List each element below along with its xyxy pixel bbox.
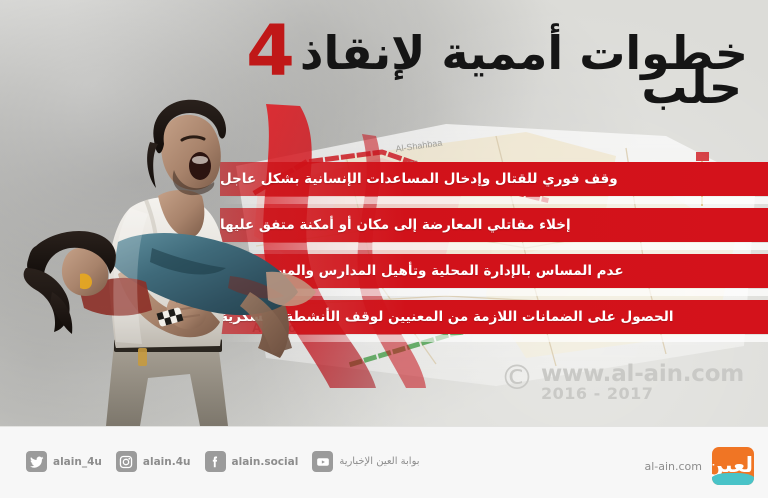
- social-handle-instagram: alain.4u: [143, 456, 191, 468]
- social-item-youtube[interactable]: بوابة العين الإخبارية: [312, 451, 419, 472]
- al-ain-logo[interactable]: العين: [712, 447, 754, 485]
- title-text-line2: حلب: [641, 60, 742, 114]
- artwork-area: Al-Shahbaa Aleppo Aleppo وقف فوري للقتال…: [0, 0, 768, 426]
- twitter-icon[interactable]: [26, 451, 47, 472]
- watermark: © www.al-ain.com 2016 - 2017: [500, 362, 744, 403]
- social-handle-twitter: alain_4u: [53, 456, 102, 468]
- infographic-poster: Al-Shahbaa Aleppo Aleppo وقف فوري للقتال…: [0, 0, 768, 498]
- social-item-twitter[interactable]: alain_4u: [26, 451, 102, 472]
- logo-wave-shape: [712, 473, 754, 485]
- instagram-icon[interactable]: [116, 451, 137, 472]
- brand-block[interactable]: al-ain.com العين: [644, 447, 754, 485]
- social-item-facebook[interactable]: alain.social: [205, 451, 299, 472]
- footer-bar: alain_4u alain.4u alai: [0, 426, 768, 498]
- brand-url: al-ain.com: [644, 460, 702, 473]
- copyright-icon: ©: [500, 362, 534, 394]
- social-item-instagram[interactable]: alain.4u: [116, 451, 191, 472]
- youtube-icon[interactable]: [312, 451, 333, 472]
- facebook-icon[interactable]: [205, 451, 226, 472]
- title-number: 4: [246, 10, 295, 92]
- photo-man-carrying-child: [22, 96, 322, 426]
- watermark-url: www.al-ain.com: [541, 362, 744, 386]
- social-handle-youtube: بوابة العين الإخبارية: [339, 456, 419, 467]
- social-handle-facebook: alain.social: [232, 456, 299, 468]
- social-links: alain_4u alain.4u alai: [26, 451, 420, 472]
